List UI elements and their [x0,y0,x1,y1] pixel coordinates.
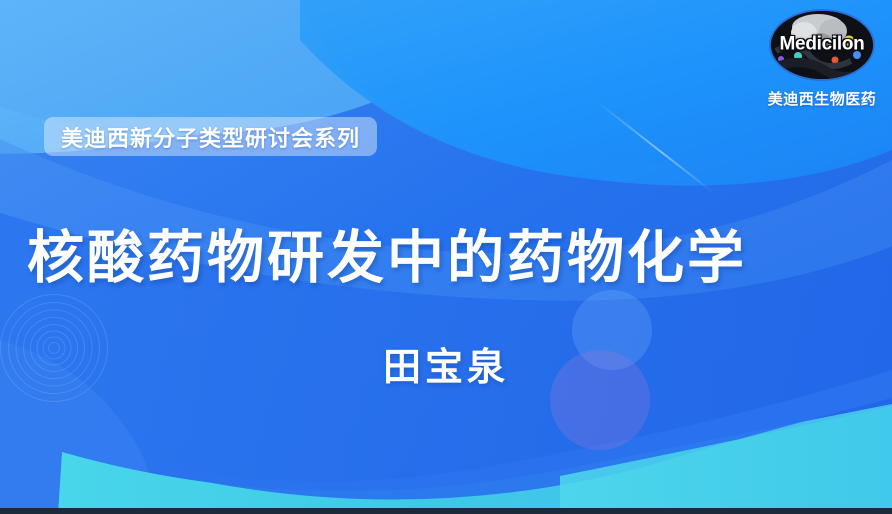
series-badge: 美迪西新分子类型研讨会系列 [44,117,377,156]
speaker-name: 田宝泉 [0,336,892,391]
series-badge-label: 美迪西新分子类型研讨会系列 [61,121,360,153]
medicilon-logo: Medicilon 美迪西生物医药 [763,9,881,109]
medicilon-chinese-name: 美迪西生物医药 [763,88,881,109]
presentation-title-slide: 美迪西新分子类型研讨会系列 核酸药物研发中的药物化学 田宝泉 [0,0,892,514]
page-title: 核酸药物研发中的药物化学 [27,212,747,294]
medicilon-wordmark: Medicilon [771,34,873,56]
molecule-oval-icon: Medicilon [769,9,875,81]
bottom-edge-strip [0,508,892,514]
